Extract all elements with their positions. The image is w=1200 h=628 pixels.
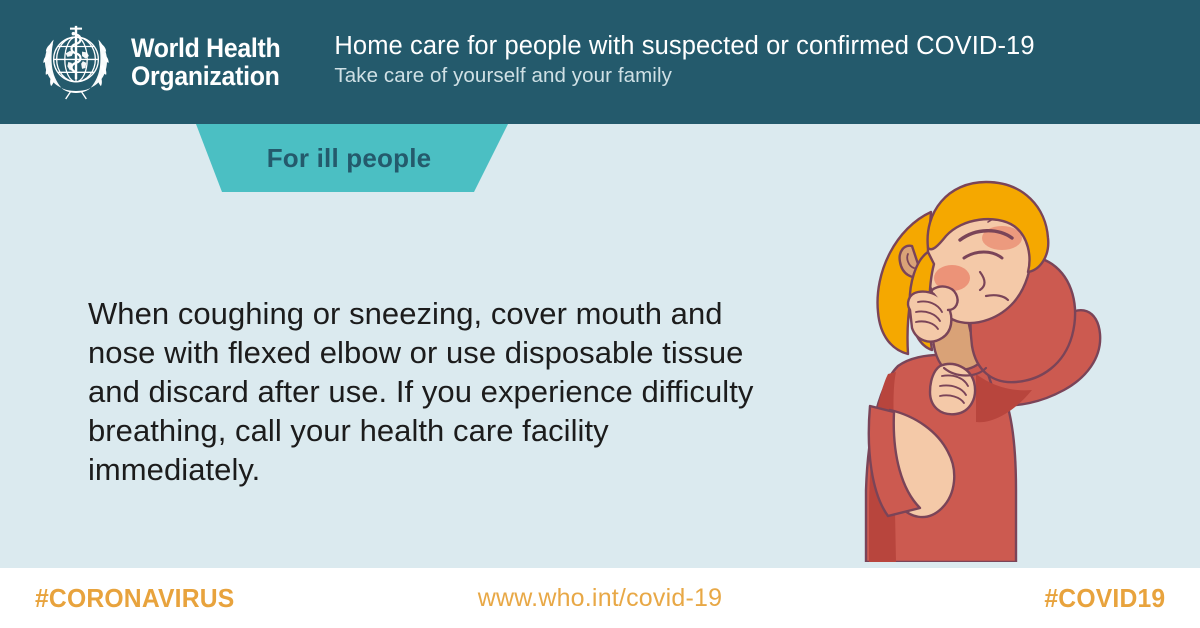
footer-bar: #CORONAVIRUS www.who.int/covid-19 #COVID… bbox=[0, 568, 1200, 628]
banner-label: For ill people bbox=[196, 124, 508, 192]
who-wordmark-line1: World Health bbox=[131, 34, 280, 62]
section-banner: For ill people bbox=[196, 124, 508, 192]
woman-coughing-into-elbow-illustration bbox=[836, 160, 1126, 562]
who-logo: World Health Organization bbox=[33, 19, 293, 105]
header-subtitle: Take care of yourself and your family bbox=[334, 62, 1034, 90]
who-wordmark-line2: Organization bbox=[131, 62, 280, 90]
header-bar: World Health Organization Home care for … bbox=[0, 0, 1200, 124]
header-title: Home care for people with suspected or c… bbox=[334, 30, 1034, 62]
who-covid-infographic: World Health Organization Home care for … bbox=[0, 0, 1200, 628]
advice-text: When coughing or sneezing, cover mouth a… bbox=[88, 294, 788, 489]
who-wordmark: World Health Organization bbox=[131, 34, 280, 90]
who-emblem-icon bbox=[33, 19, 119, 105]
footer-hashtag-right: #COVID19 bbox=[1044, 583, 1165, 614]
header-text-block: Home care for people with suspected or c… bbox=[334, 30, 1034, 94]
footer-url[interactable]: www.who.int/covid-19 bbox=[0, 584, 1200, 613]
